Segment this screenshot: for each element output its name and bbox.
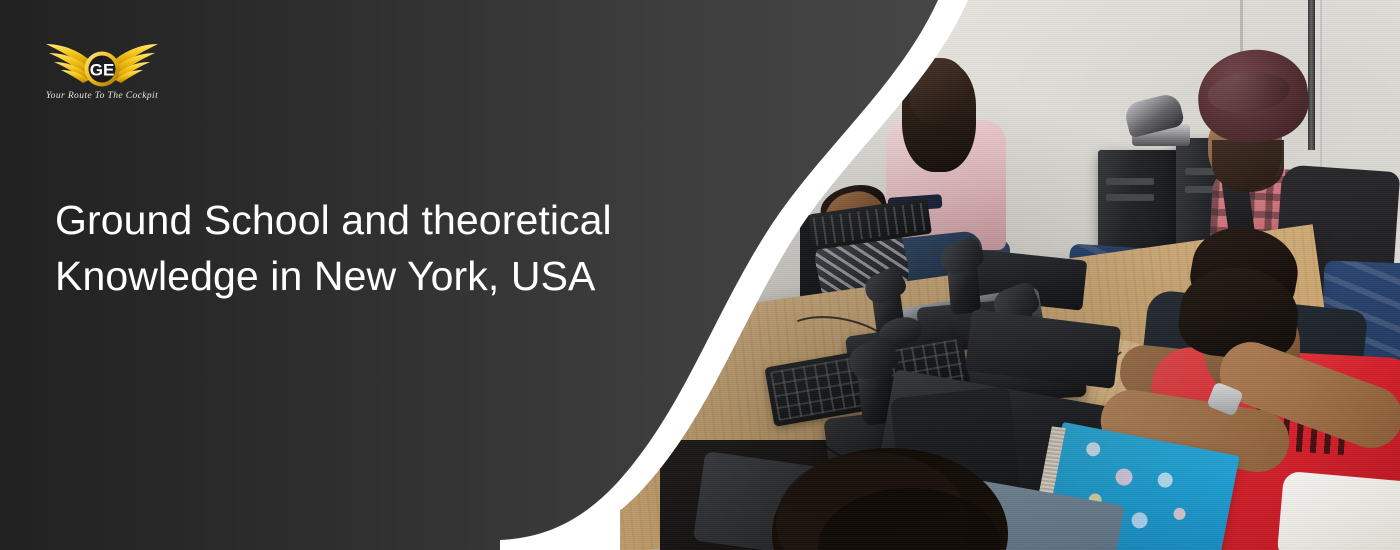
- headline-line-1: Ground School and theoretical: [55, 197, 612, 243]
- logo-tagline: Your Route To The Cockpit: [46, 91, 158, 101]
- student-head-foreground: [760, 430, 1020, 550]
- beard: [1212, 140, 1284, 192]
- ge-wings-logo-mark: GE Your Route To The Cockpit: [38, 32, 166, 104]
- white-trousers: [1276, 471, 1400, 550]
- ge-wings-logo[interactable]: GE Your Route To The Cockpit: [38, 32, 166, 104]
- logo-monogram: GE: [90, 61, 115, 80]
- page-title: Ground School and theoretical Knowledge …: [55, 192, 695, 304]
- classroom-photo: [620, 0, 1400, 550]
- ceiling-pole: [1308, 0, 1315, 150]
- hero-content: GE Your Route To The Cockpit Ground Scho…: [0, 0, 700, 550]
- head: [910, 58, 968, 124]
- hero-banner: GE Your Route To The Cockpit Ground Scho…: [0, 0, 1400, 550]
- headline-line-2: Knowledge in New York, USA: [55, 253, 595, 299]
